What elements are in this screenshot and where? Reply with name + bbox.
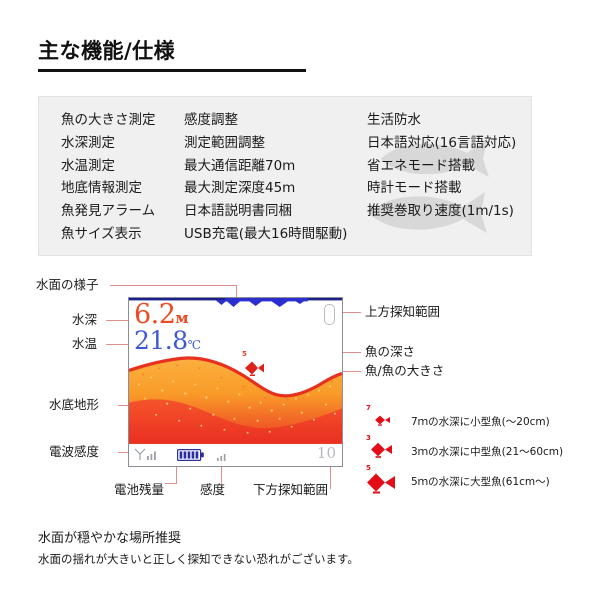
spec-column-2: 感度調整 測定範囲調整 最大通信距離70m 最大測定深度45m 日本語説明書同梱… (184, 109, 347, 246)
spec-item: 水温測定 (61, 155, 156, 178)
spec-item: 時計モード搭載 (367, 177, 516, 200)
product-spec-page: 主な機能/仕様 魚の大きさ測定 水深測定 水温測定 地底情報測定 魚発見アラーム… (0, 0, 600, 600)
legend-row: 7 7ｍの水深に小型魚(〜20cm) (366, 406, 591, 436)
lower-detection-range-value: 10 (317, 446, 336, 461)
title-underline (38, 69, 306, 72)
callout-temperature: 水温 (72, 338, 97, 351)
fish-size-legend: 7 7ｍの水深に小型魚(〜20cm) 3 3ｍの水深に中型魚(21〜60cm) … (366, 406, 591, 496)
device-status-bar: 10 (129, 443, 342, 466)
fish-marker-depth-label: 5 (242, 350, 247, 358)
depth-readout: 6.2м (134, 301, 188, 328)
sensitivity-bars-icon (217, 453, 230, 461)
callout-bottom-terrain: 水底地形 (49, 399, 99, 412)
battery-icon (177, 449, 205, 461)
footer-heading: 水面が穏やかな場所推奨 (38, 527, 181, 546)
leader-line-battery-foot (165, 483, 177, 484)
spec-table: 魚の大きさ測定 水深測定 水温測定 地底情報測定 魚発見アラーム 魚サイズ表示 … (38, 96, 532, 256)
temperature-readout: 21.8℃ (134, 328, 201, 353)
leader-line-temperature (106, 344, 130, 345)
legend-row: 3 3ｍの水深に中型魚(21〜60cm) (366, 436, 591, 466)
temperature-value: 21.8 (134, 326, 188, 355)
spec-item: 省エネモード搭載 (367, 155, 516, 178)
sonar-device-screen: 6.2м 21.8℃ 5 (128, 297, 343, 467)
callout-battery: 電池残量 (114, 484, 164, 497)
signal-antenna-icon (134, 448, 160, 461)
callout-fish-depth: 魚の深さ (365, 346, 415, 359)
legend-text: 7ｍの水深に小型魚(〜20cm) (411, 414, 550, 429)
spec-column-1: 魚の大きさ測定 水深測定 水温測定 地底情報測定 魚発見アラーム 魚サイズ表示 (61, 109, 156, 246)
spec-item: 生活防水 (367, 109, 516, 132)
spec-item: 測定範囲調整 (184, 132, 347, 155)
leader-line-lower-range (330, 467, 331, 489)
medium-fish-icon (370, 441, 400, 458)
spec-item: 最大通信距離70m (184, 155, 347, 178)
leader-line-water-surface (110, 285, 236, 286)
large-fish-icon (366, 471, 406, 494)
callout-signal: 電波感度 (49, 446, 99, 459)
depth-unit: м (175, 309, 188, 327)
spec-column-3: 生活防水 日本語対応(16言語対応) 省エネモード搭載 時計モード搭載 推奨巻取… (367, 109, 516, 223)
spec-columns: 魚の大きさ測定 水深測定 水温測定 地底情報測定 魚発見アラーム 魚サイズ表示 … (39, 97, 531, 255)
page-title: 主な機能/仕様 (38, 40, 306, 63)
leader-line-battery (176, 467, 177, 483)
callout-fish-size: 魚/魚の大きさ (365, 365, 444, 378)
spec-item: 日本語説明書同梱 (184, 200, 347, 223)
leader-line-depth (106, 320, 130, 321)
footer-note: 水面の揺れが大きいと正しく探知できない恐れがございます。 (38, 551, 359, 567)
callout-lower-range: 下方探知範囲 (253, 484, 328, 497)
spec-item: 魚発見アラーム (61, 200, 156, 223)
spec-item: 魚の大きさ測定 (61, 109, 156, 132)
spec-item: 地底情報測定 (61, 177, 156, 200)
spec-item: USB充電(最大16時間駆動) (184, 223, 347, 246)
callout-upper-range: 上方探知範囲 (365, 306, 440, 319)
callout-water-surface: 水面の様子 (36, 279, 99, 292)
callout-sensitivity: 感度 (200, 484, 225, 497)
upper-detection-range-indicator (324, 304, 335, 325)
spec-item: 魚サイズ表示 (61, 223, 156, 246)
legend-depth-label: 7 (366, 404, 371, 412)
temperature-unit: ℃ (188, 338, 201, 352)
spec-item: 水深測定 (61, 132, 156, 155)
spec-item: 推奨巻取り速度(1m/1s) (367, 200, 516, 223)
callout-depth: 水深 (72, 314, 97, 327)
spec-item: 日本語対応(16言語対応) (367, 132, 516, 155)
small-fish-icon (374, 414, 396, 426)
spec-item: 最大測定深度45m (184, 177, 347, 200)
legend-text: 3ｍの水深に中型魚(21〜60cm) (411, 444, 563, 459)
legend-text: 5ｍの水深に大型魚(61cm〜) (411, 474, 550, 489)
leader-line-upper-range (343, 312, 361, 313)
spec-item: 感度調整 (184, 109, 347, 132)
fish-marker-icon (243, 360, 265, 376)
legend-row: 5 5ｍの水深に大型魚(61cm〜) (366, 466, 591, 496)
page-title-block: 主な機能/仕様 (38, 40, 306, 72)
